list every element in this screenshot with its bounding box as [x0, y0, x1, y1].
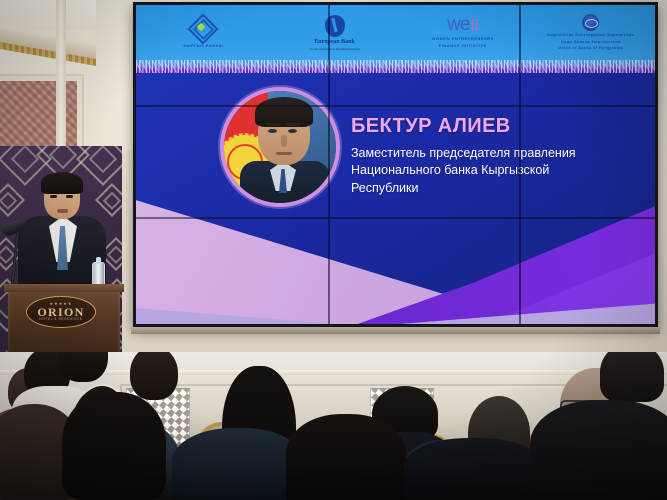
speaker-role-line-3: Республики — [351, 180, 641, 197]
podium-venue-badge: ★★★★★ ORION HOTEL & RESIDENCE — [26, 296, 96, 328]
video-wall-display: КЫРГЫЗ БАНКЫ European Bank for Reconstru… — [133, 2, 658, 327]
audience-member-foreground — [286, 414, 406, 500]
decorative-shape-pink — [136, 194, 446, 324]
video-wall-seam-horizontal-1 — [136, 105, 655, 107]
wefi-fi-text: fi — [470, 20, 478, 34]
logo-wefi-caption-1: WOMEN ENTREPRENEURS — [432, 36, 494, 41]
logo-wefi: we fi WOMEN ENTREPRENEURS FINANCE INITIA… — [399, 5, 527, 60]
diamond-mark-icon — [191, 17, 215, 41]
logo-union-of-banks: Кыргызстан Банктарынын Бирликтеши Союз Б… — [527, 5, 655, 60]
slide-content-area: БЕКТУР АЛИЕВ Заместитель председателя пр… — [136, 73, 655, 324]
video-wall-seam-vertical-1 — [328, 5, 330, 324]
presentation-slide: КЫРГЫЗ БАНКЫ European Bank for Reconstru… — [136, 5, 655, 324]
logo-union-caption-3: Union of Banks of Kyrgyzstan — [558, 46, 623, 50]
logo-union-caption-1: Кыргызстан Банктарынын Бирликтеши — [547, 33, 634, 37]
speaker-portrait-photo — [224, 91, 336, 203]
speaker-info-block: БЕКТУР АЛИЕВ Заместитель председателя пр… — [351, 115, 641, 197]
logo-wefi-caption-2: FINANCE INITIATIVE — [439, 43, 487, 48]
podium-top-surface — [4, 284, 124, 292]
logo-ebrd-subtitle: for Reconstruction and Development — [310, 47, 360, 51]
logo-union-caption-2: Союз Банков Кыргызстана — [561, 40, 621, 44]
wefi-we-text: we — [447, 17, 469, 33]
audience-member-foreground — [62, 392, 166, 500]
audience-member-foreground — [530, 400, 667, 500]
wall-column — [96, 0, 138, 150]
speaker-role-line-2: Национального банка Кыргызской — [351, 162, 641, 179]
speaker-name: БЕКТУР АЛИЕВ — [351, 115, 641, 138]
union-banks-mark-icon — [582, 14, 599, 31]
audience-member — [130, 352, 178, 400]
speaker-role-line-1: Заместитель председателя правления — [351, 145, 641, 162]
wall-pilaster — [56, 0, 66, 150]
video-wall-seam-horizontal-2 — [136, 217, 655, 219]
logo-kyrgyz-bank: КЫРГЫЗ БАНКЫ — [136, 5, 271, 60]
logo-ebrd: European Bank for Reconstruction and Dev… — [271, 5, 399, 60]
sponsor-logo-strip: КЫРГЫЗ БАНКЫ European Bank for Reconstru… — [136, 5, 655, 60]
audience-member-foreground — [404, 438, 544, 500]
video-wall-shelf — [131, 327, 660, 334]
badge-venue-subtitle: HOTEL & RESIDENCE — [39, 318, 82, 321]
audience-member-foreground — [172, 428, 304, 500]
conference-photo-scene: КЫР ЫЗ БАНКЫ КЫРГЫЗ БАНКЫ European Bank … — [0, 0, 667, 500]
kyrgyz-ornament-band — [136, 60, 655, 73]
video-wall-seam-vertical-2 — [519, 5, 521, 324]
logo-ebrd-name: European Bank — [314, 39, 354, 45]
wefi-wordmark-icon: we fi — [447, 17, 478, 33]
